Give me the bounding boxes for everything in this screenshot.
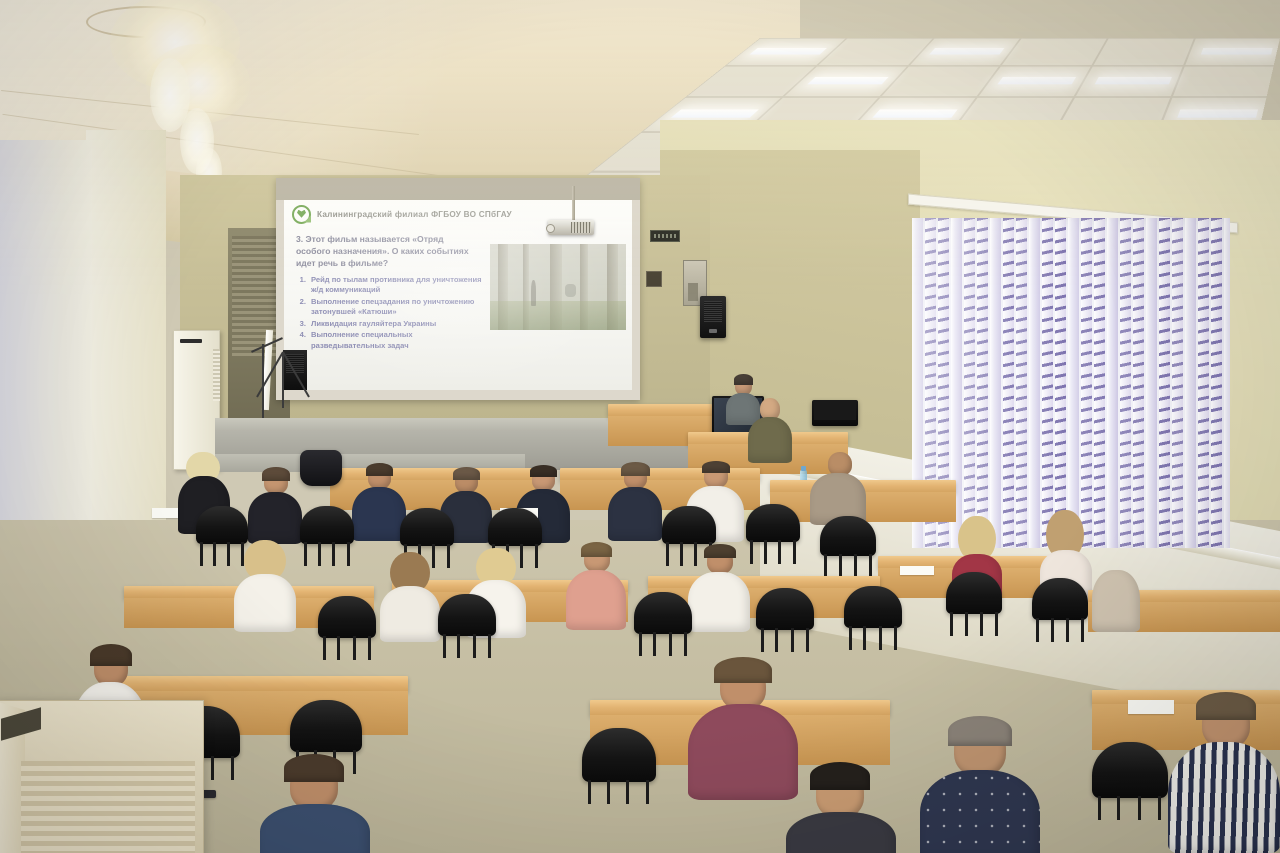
slide-answer-number: 3. <box>298 319 306 329</box>
chair <box>318 596 376 638</box>
projection-screen: Калининградский филиал ФГБОУ ВО СПбГАУ 3… <box>276 178 640 400</box>
chair-legs <box>323 636 372 660</box>
ceiling-fluorescent-lamp <box>807 77 888 84</box>
blind-slat[interactable] <box>1159 218 1170 548</box>
chair <box>1032 578 1088 620</box>
blind-slat[interactable] <box>1146 218 1157 548</box>
audience-member <box>1040 510 1092 588</box>
chair-legs <box>824 554 871 578</box>
audience-member-foreground <box>1168 700 1280 850</box>
chair <box>746 504 800 542</box>
whiteboard-panel <box>173 330 220 470</box>
slide-photo <box>490 244 626 330</box>
ceiling-fluorescent-lamp <box>1177 109 1258 117</box>
audience-member-foreground <box>688 664 798 794</box>
ceiling-fluorescent-lamp <box>998 77 1077 84</box>
chair <box>946 572 1002 614</box>
ceiling-fluorescent-lamp <box>873 109 958 117</box>
ceiling-fluorescent-lamp <box>929 48 1004 55</box>
projector-mount-pole <box>572 186 575 220</box>
chair <box>756 588 814 630</box>
blind-slat[interactable] <box>1172 218 1183 548</box>
blind-slat[interactable] <box>1211 218 1222 548</box>
audience-member <box>688 548 750 630</box>
chair <box>196 506 248 544</box>
ceiling-fluorescent-lamp <box>1095 77 1172 84</box>
chair-legs <box>849 626 898 650</box>
ceiling-fluorescent-lamp <box>671 109 759 117</box>
ceiling-tile <box>1000 38 1108 66</box>
ceiling-projector <box>548 216 594 238</box>
chair <box>400 508 454 546</box>
presenter-seated <box>748 398 792 462</box>
audience-member <box>1092 560 1140 630</box>
audience-member <box>234 540 296 626</box>
slide-question: 3. Этот фильм называется «Отряд особого … <box>296 233 478 270</box>
ceiling-tile <box>1172 66 1276 97</box>
blind-slat[interactable] <box>1224 218 1230 548</box>
chair-legs <box>1098 796 1162 820</box>
slide-answer-list: 1.Рейд по тылам противника для уничтожен… <box>298 275 484 352</box>
backpack-on-floor <box>300 450 342 486</box>
chair-legs <box>443 634 492 658</box>
slide-answer-text: Ликвидация гауляйтера Украины <box>311 319 436 329</box>
audience-member-foreground <box>920 724 1040 853</box>
chair <box>438 594 496 636</box>
audience-member <box>810 452 866 522</box>
blind-slat[interactable] <box>1133 218 1144 548</box>
ceiling-tile <box>1092 38 1195 66</box>
slide-answer-item: 2.Выполнение спецзадания по уничтожению … <box>298 297 484 318</box>
slide-answer-text: Выполнение спецзадания по уничтожению за… <box>311 297 484 318</box>
projector-lens-icon <box>546 224 555 233</box>
handout-paper <box>900 566 934 575</box>
slide-header-title: Калининградский филиал ФГБОУ ВО СПбГАУ <box>317 210 512 219</box>
chair <box>634 592 692 634</box>
blind-slat[interactable] <box>1081 218 1092 548</box>
chair <box>290 700 362 752</box>
audience-member <box>608 466 662 540</box>
ceiling-fluorescent-lamp <box>749 48 827 55</box>
chair <box>582 728 656 782</box>
handout-paper <box>152 508 178 518</box>
blind-slat[interactable] <box>1185 218 1196 548</box>
slide-answer-item: 4.Выполнение специальных разведывательны… <box>298 330 484 351</box>
chair-legs <box>304 542 349 566</box>
ceiling-fluorescent-lamp <box>1201 48 1273 55</box>
chair <box>844 586 902 628</box>
slide-answer-number: 1. <box>298 275 306 296</box>
audience-member <box>248 470 302 542</box>
chair-legs <box>639 632 688 656</box>
chair-legs <box>750 540 795 564</box>
av-equipment-case <box>812 400 858 426</box>
audience-member <box>566 546 626 628</box>
chair-legs <box>761 628 810 652</box>
chair <box>820 516 876 556</box>
chair <box>662 506 716 544</box>
chair-legs <box>1036 618 1083 642</box>
slide-answer-item: 1.Рейд по тылам противника для уничтожен… <box>298 275 484 296</box>
chair-legs <box>950 612 997 636</box>
blind-slat[interactable] <box>1055 218 1066 548</box>
wall-plaque <box>646 271 662 287</box>
slide-answer-item: 3.Ликвидация гауляйтера Украины <box>298 319 484 329</box>
chair-legs <box>588 780 650 804</box>
slide-answer-number: 4. <box>298 330 306 351</box>
chair <box>300 506 354 544</box>
blind-slat[interactable] <box>1198 218 1209 548</box>
slide-answer-text: Выполнение специальных разведывательных … <box>311 330 484 351</box>
chair <box>1092 742 1168 798</box>
slide-answer-number: 2. <box>298 297 306 318</box>
blind-slat[interactable] <box>1120 218 1131 548</box>
blind-slat[interactable] <box>1042 218 1053 548</box>
audience-member-foreground <box>786 770 896 853</box>
blind-slat[interactable] <box>1107 218 1118 548</box>
exit-sign <box>650 230 680 242</box>
chair <box>488 508 542 546</box>
radiator-cabinet <box>0 700 204 853</box>
wall-speaker <box>700 296 726 338</box>
leaf-circle-logo-icon <box>292 205 311 224</box>
lecture-hall-photo: Калининградский филиал ФГБОУ ВО СПбГАУ 3… <box>0 0 1280 853</box>
slide-answer-text: Рейд по тылам противника для уничтожения… <box>311 275 484 296</box>
screen-top-band <box>276 178 640 200</box>
blind-slat[interactable] <box>1068 218 1079 548</box>
audience-member-foreground <box>260 762 370 853</box>
blind-slat[interactable] <box>1094 218 1105 548</box>
audience-member <box>352 466 406 540</box>
audience-member <box>380 552 440 636</box>
